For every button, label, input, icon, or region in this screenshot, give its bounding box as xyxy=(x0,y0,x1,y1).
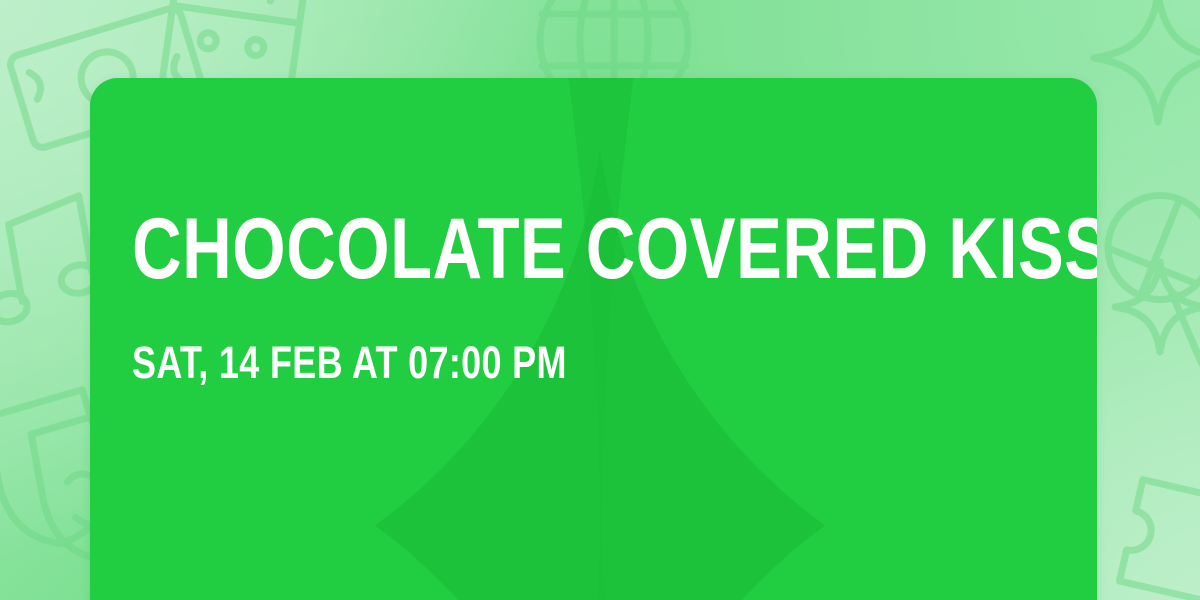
music-note-icon xyxy=(0,195,102,324)
sparkle-icon xyxy=(1094,0,1200,122)
ticket-icon xyxy=(1119,480,1200,600)
card-petal-pattern xyxy=(90,78,1097,600)
event-card[interactable]: CHOCOLATE COVERED KISSES SAT, 14 FEB AT … xyxy=(90,78,1097,600)
event-banner: CHOCOLATE COVERED KISSES SAT, 14 FEB AT … xyxy=(0,0,1200,600)
